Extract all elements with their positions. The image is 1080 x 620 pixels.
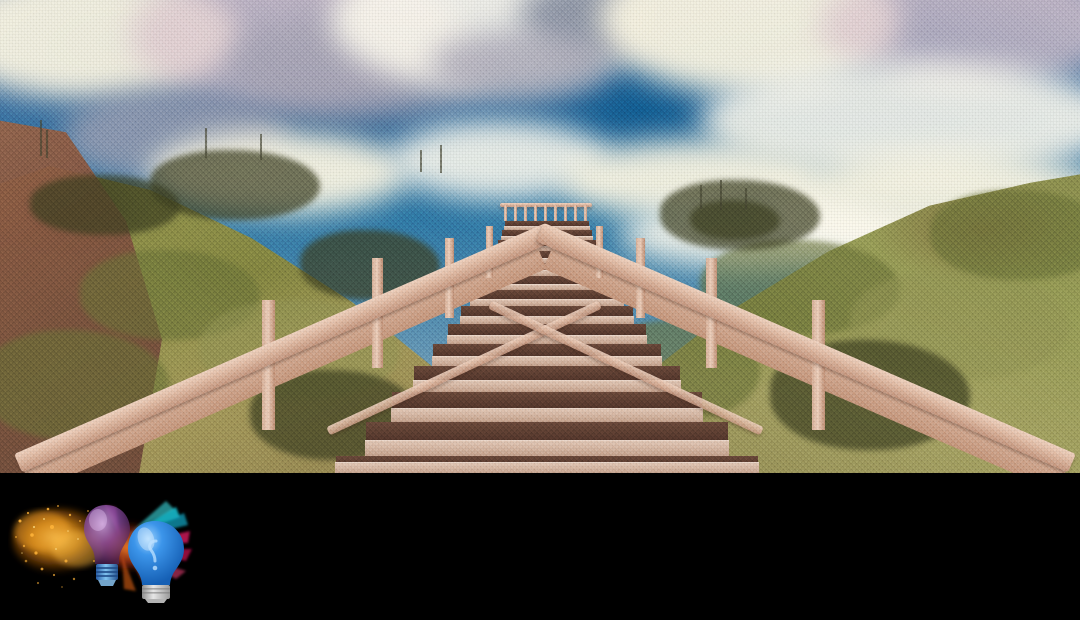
stair-riser: [433, 344, 661, 356]
stair-tread: [335, 462, 759, 473]
stair-riser: [461, 306, 633, 316]
baluster: [534, 205, 537, 221]
hero-photo: [0, 0, 1080, 473]
stair-tread: [391, 408, 703, 422]
slide-root: Combinatorial Effect # 8 Rewrite your Ne…: [0, 0, 1080, 620]
baluster: [544, 205, 547, 221]
baluster: [574, 205, 577, 221]
baluster: [524, 205, 527, 221]
purple-lightbulb: [84, 505, 130, 586]
caption-banner: Combinatorial Effect # 8 Rewrite your Ne…: [0, 473, 1080, 620]
stair-tread: [413, 380, 681, 392]
baluster: [584, 205, 587, 221]
exploding-lightbulb-logo: [8, 491, 206, 603]
stair-riser: [392, 392, 702, 408]
stair-riser: [366, 422, 728, 440]
blue-lightbulb: [128, 521, 184, 603]
staircase: [0, 0, 1080, 473]
baluster: [514, 205, 517, 221]
baluster: [554, 205, 557, 221]
baluster: [564, 205, 567, 221]
stair-tread: [365, 440, 729, 456]
baluster: [504, 205, 507, 221]
